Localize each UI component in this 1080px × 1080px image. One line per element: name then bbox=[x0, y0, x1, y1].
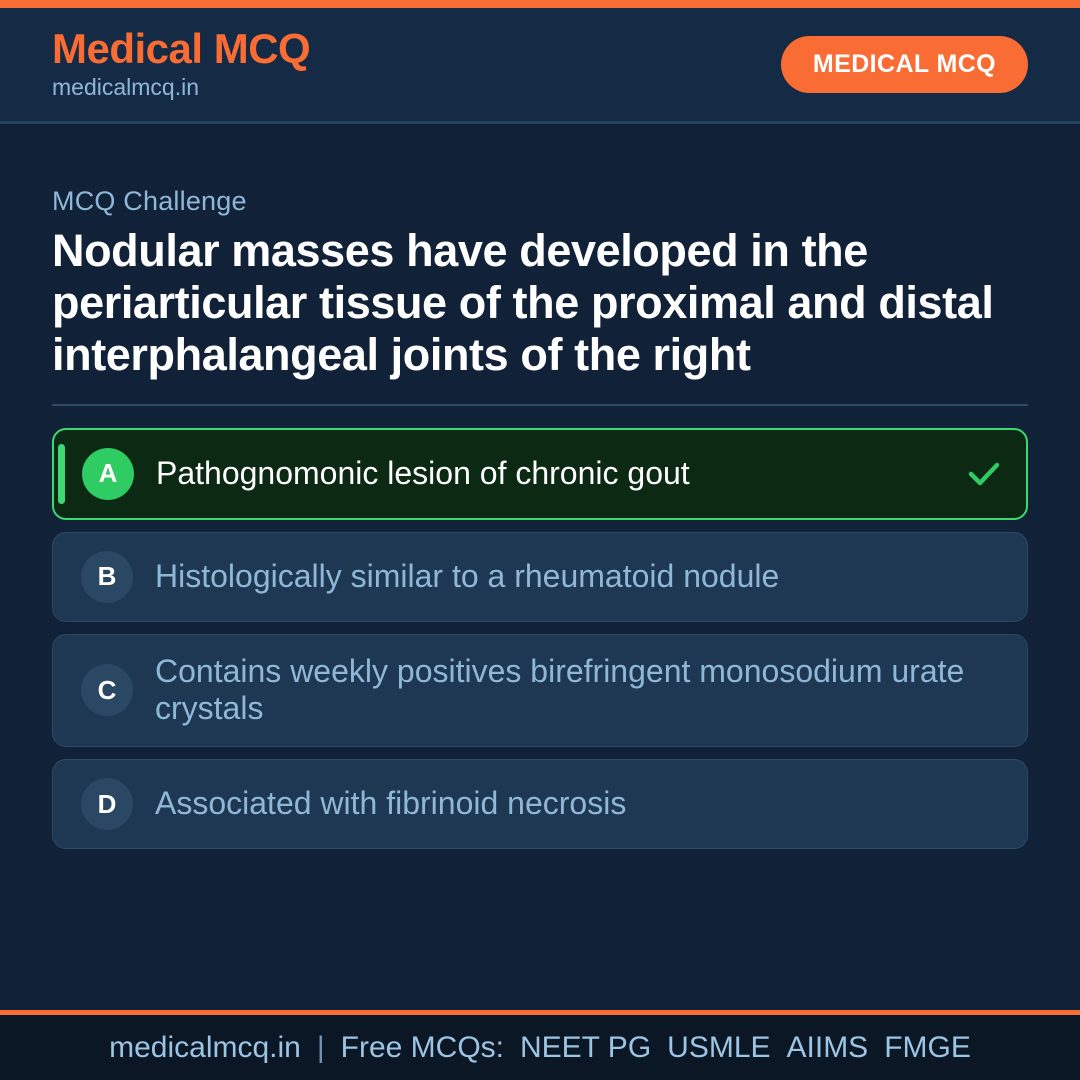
header-bar: Medical MCQ medicalmcq.in MEDICAL MCQ bbox=[0, 8, 1080, 124]
option-d-text: Associated with fibrinoid necrosis bbox=[155, 785, 1005, 823]
option-c[interactable]: C Contains weekly positives birefringent… bbox=[52, 634, 1028, 748]
footer-separator: | bbox=[317, 1031, 325, 1065]
option-b[interactable]: B Histologically similar to a rheumatoid… bbox=[52, 532, 1028, 622]
check-icon bbox=[964, 454, 1004, 494]
footer-exam-fmge[interactable]: FMGE bbox=[884, 1031, 971, 1065]
mcq-card: Medical MCQ medicalmcq.in MEDICAL MCQ MC… bbox=[0, 0, 1080, 1080]
option-b-badge: B bbox=[81, 551, 133, 603]
question-divider bbox=[52, 404, 1028, 406]
question-text: Nodular masses have developed in the per… bbox=[52, 225, 1028, 382]
brand-badge[interactable]: MEDICAL MCQ bbox=[781, 36, 1028, 93]
brand-subtitle: medicalmcq.in bbox=[52, 73, 310, 103]
brand-title: Medical MCQ bbox=[52, 27, 310, 71]
option-c-text: Contains weekly positives birefringent m… bbox=[155, 653, 1005, 729]
footer-exam-neet-pg[interactable]: NEET PG bbox=[520, 1031, 651, 1065]
option-c-badge: C bbox=[81, 664, 133, 716]
option-d[interactable]: D Associated with fibrinoid necrosis bbox=[52, 759, 1028, 849]
option-a-badge: A bbox=[82, 448, 134, 500]
option-a[interactable]: A Pathognomonic lesion of chronic gout bbox=[52, 428, 1028, 520]
footer-exam-tags: NEET PG USMLE AIIMS FMGE bbox=[520, 1031, 971, 1065]
option-d-badge: D bbox=[81, 778, 133, 830]
footer-bar: medicalmcq.in | Free MCQs: NEET PG USMLE… bbox=[0, 1010, 1080, 1080]
option-a-text: Pathognomonic lesion of chronic gout bbox=[156, 455, 946, 493]
top-accent-strip bbox=[0, 0, 1080, 8]
footer-content: medicalmcq.in | Free MCQs: NEET PG USMLE… bbox=[109, 1031, 971, 1065]
options-list: A Pathognomonic lesion of chronic gout B… bbox=[52, 428, 1028, 850]
brand: Medical MCQ medicalmcq.in bbox=[52, 27, 310, 103]
footer-exam-aiims[interactable]: AIIMS bbox=[787, 1031, 869, 1065]
option-b-text: Histologically similar to a rheumatoid n… bbox=[155, 558, 1005, 596]
footer-label: Free MCQs: bbox=[341, 1031, 504, 1065]
main-content: MCQ Challenge Nodular masses have develo… bbox=[0, 124, 1080, 1010]
kicker-label: MCQ Challenge bbox=[52, 186, 1028, 217]
footer-exam-usmle[interactable]: USMLE bbox=[667, 1031, 770, 1065]
correct-accent-bar bbox=[58, 444, 65, 504]
footer-site[interactable]: medicalmcq.in bbox=[109, 1031, 301, 1065]
